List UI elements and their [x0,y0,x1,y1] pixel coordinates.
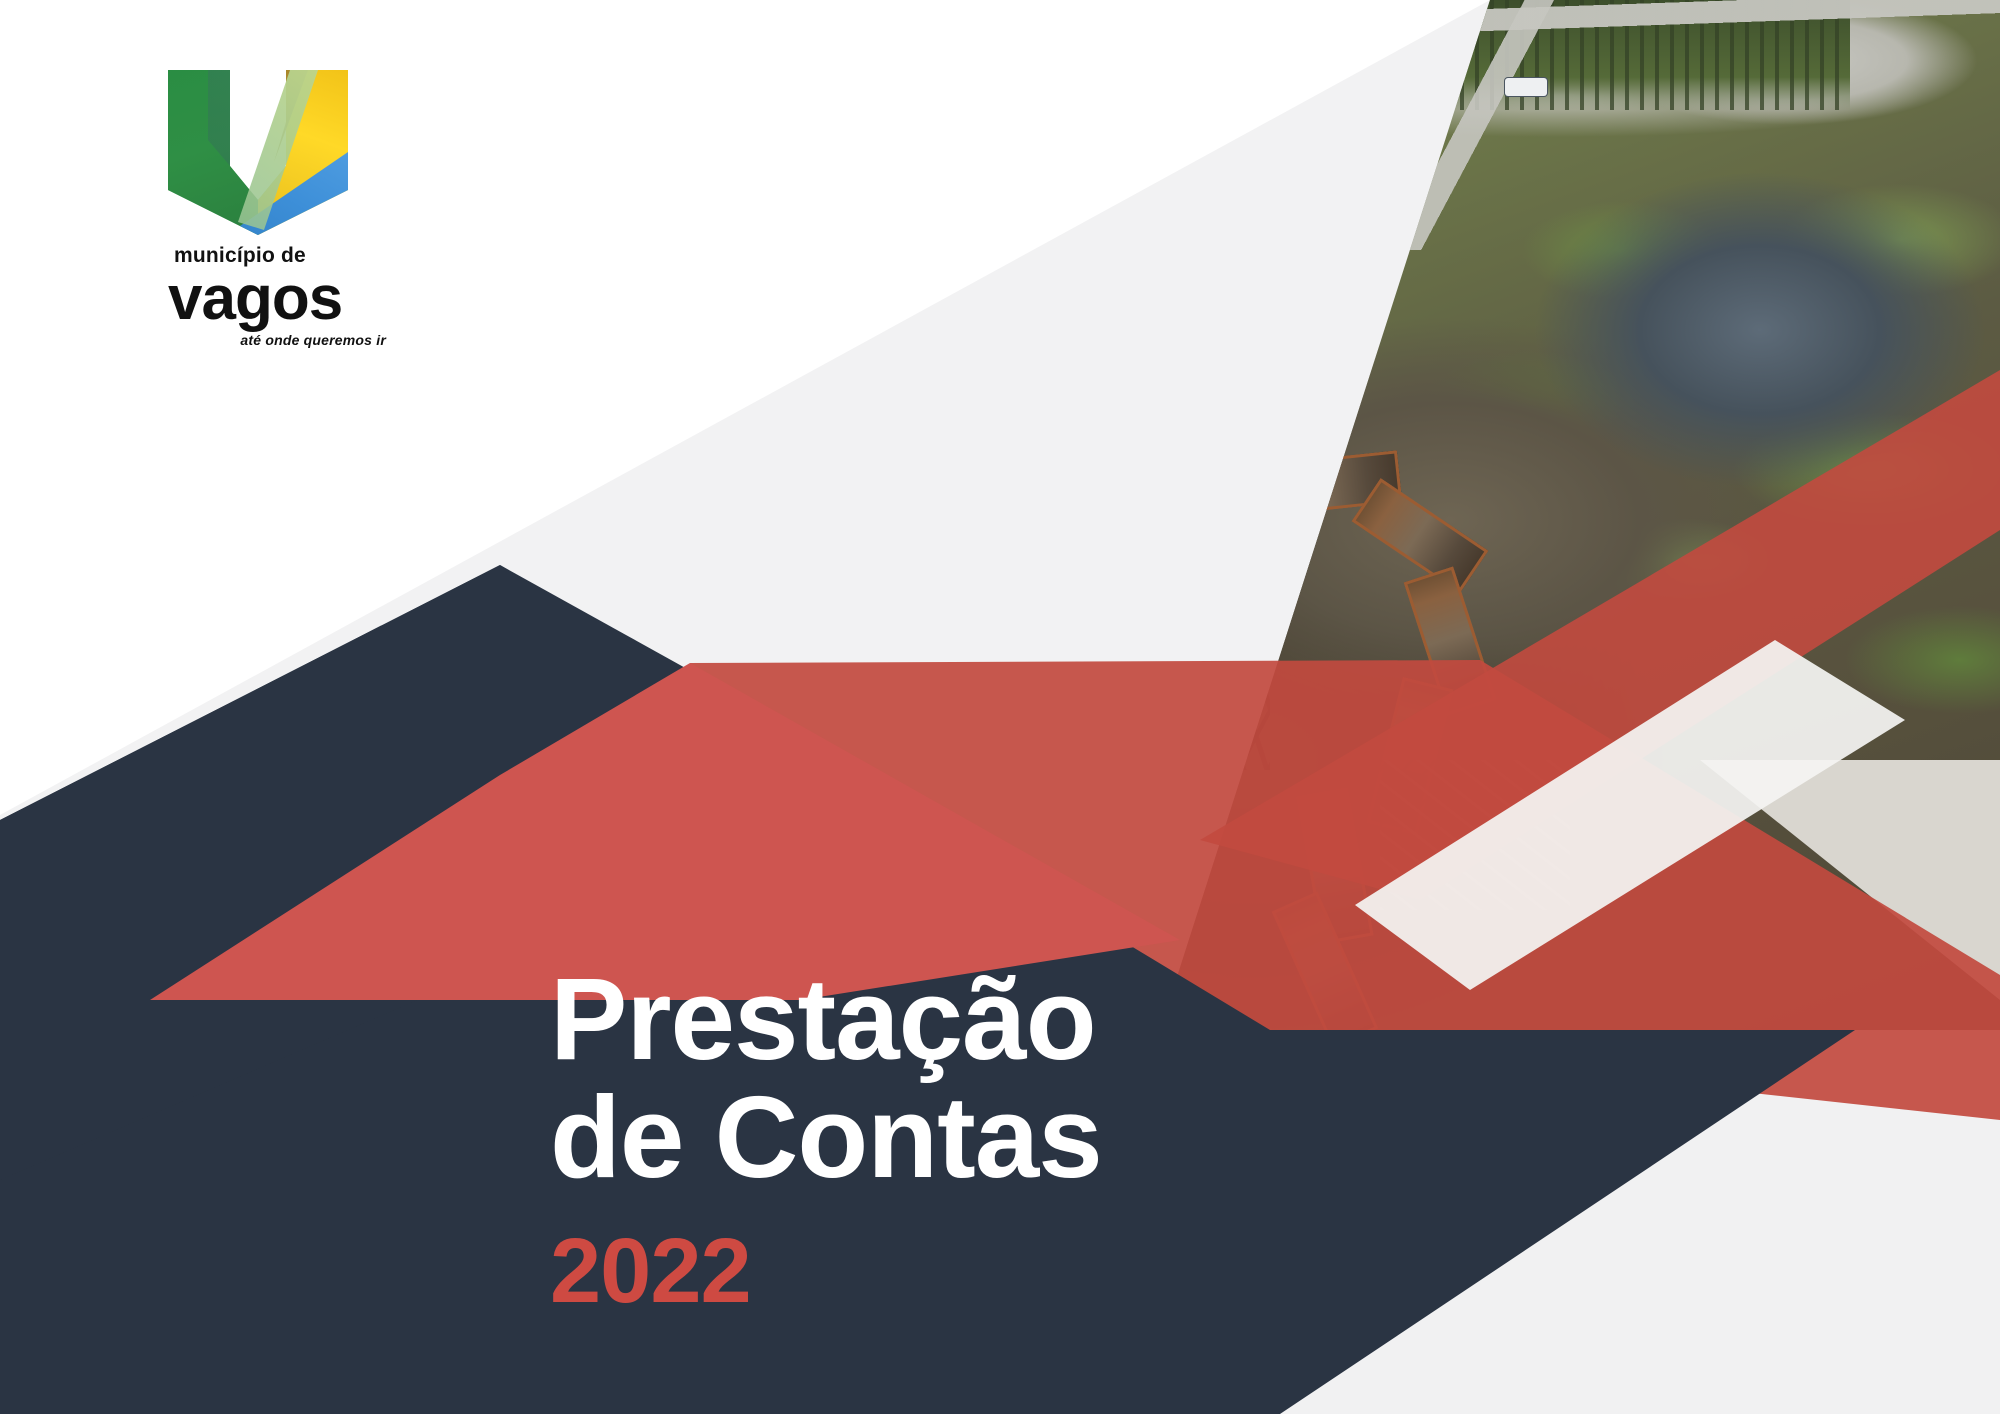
photo-shed-dark [1035,280,1065,306]
cover-title-block: Prestação de Contas 2022 [550,960,1450,1324]
title-line-2: de Contas [550,1078,1450,1196]
photo-shed-white [1075,270,1115,316]
logo-name-label: vagos [168,268,380,330]
photo-white-van [1505,78,1547,96]
vagos-municipality-logo: município de vagos até onde queremos ir [150,70,380,320]
photo-road [1400,0,2000,250]
report-cover-page: município de vagos até onde queremos ir … [0,0,2000,1414]
logo-tagline: até onde queremos ir [150,333,386,347]
boardwalk-segment [1136,370,1294,482]
title-line-1: Prestação [550,960,1450,1078]
logo-sub-label: município de [174,245,380,266]
report-year: 2022 [550,1219,1450,1324]
vagos-v-mark-icon [168,70,348,235]
photo-parked-car [800,418,836,434]
logo-wordmark: município de vagos até onde queremos ir [150,245,380,347]
